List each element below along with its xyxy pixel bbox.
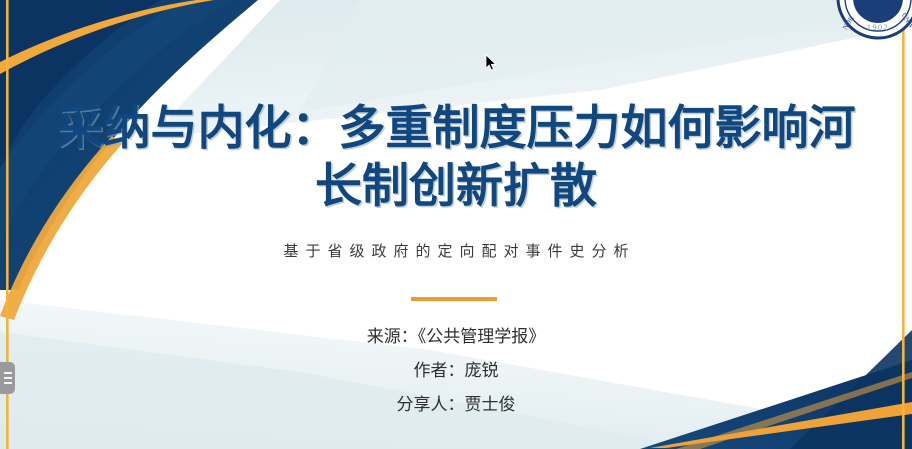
slide-subtitle: 基于省级政府的定向配对事件史分析 <box>30 240 882 261</box>
title-divider <box>411 297 497 301</box>
slide-credits: 来源：《公共管理学报》 作者：庞锐 分享人：贾士俊 <box>0 320 912 422</box>
credit-author: 作者：庞锐 <box>0 354 912 388</box>
credit-presenter: 分享人：贾士俊 <box>0 388 912 422</box>
mouse-pointer-icon <box>485 54 497 72</box>
credit-source: 来源：《公共管理学报》 <box>0 320 912 354</box>
slide-title-line-1: 采纳与内化：多重制度压力如何影响河 <box>57 101 856 156</box>
slide-title-line-2: 长制创新扩散 <box>30 158 882 216</box>
slide-title: 采纳与内化：多重制度压力如何影响河 长制创新扩散 <box>30 100 882 216</box>
slide-content: 采纳与内化：多重制度压力如何影响河 长制创新扩散 基于省级政府的定向配对事件史分… <box>0 0 912 449</box>
presentation-slide: 1902 NOR UNIV 采纳与内化：多重制度压力如何影响河 长制创新扩散 基… <box>0 0 912 449</box>
